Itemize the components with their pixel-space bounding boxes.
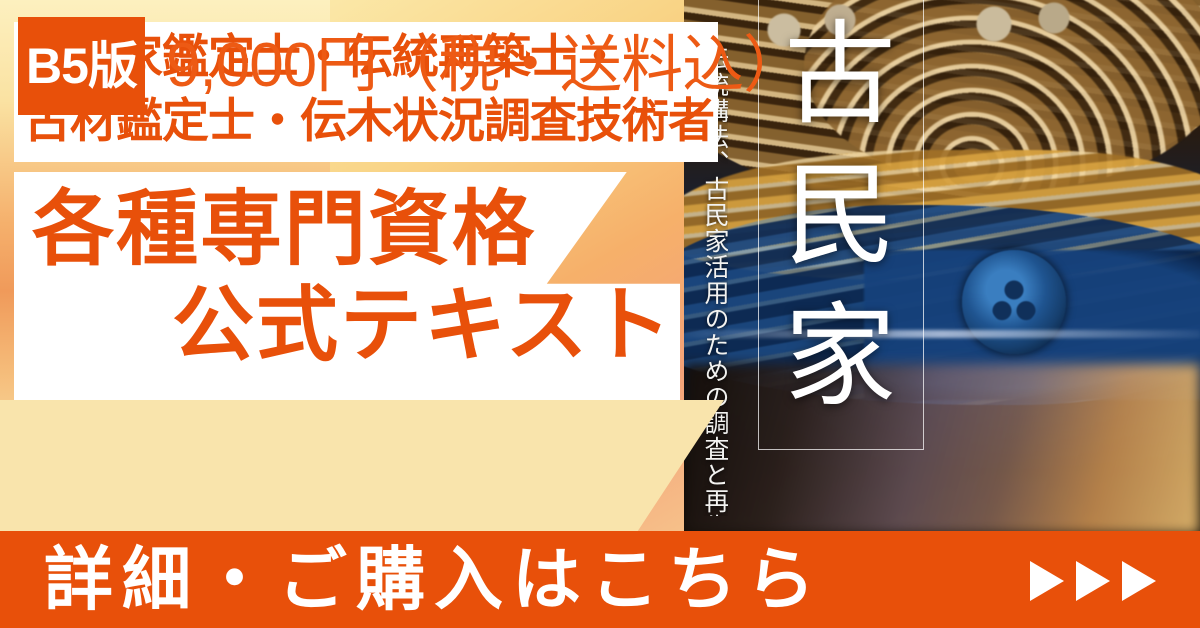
cover-title-char-2: 民 — [764, 147, 916, 288]
cta-bar[interactable]: 詳細・ご購入はこちら — [0, 531, 1200, 628]
price-text: 9,000円（税・送料込） — [166, 22, 804, 110]
cta-arrows — [1030, 561, 1156, 601]
subhead-panel: 各種専門資格 公式テキスト — [14, 172, 680, 400]
triangle-right-icon — [1122, 561, 1156, 601]
format-badge: B5版 — [18, 17, 145, 115]
subhead-line-2: 公式テキスト — [172, 278, 674, 374]
cover-title-char-3: 家 — [764, 288, 916, 429]
promo-banner: 古 民 家 伝統構法、古民家活用のための調査と再生の 古民家鑑定士・伝統再築士・… — [0, 0, 1200, 628]
subhead-line-1: 各種専門資格 — [32, 182, 536, 278]
price-panel — [0, 400, 724, 532]
cta-label: 詳細・ご購入はこちら — [44, 535, 824, 625]
photo-family-crest-medallion — [962, 250, 1066, 354]
triangle-right-icon — [1076, 561, 1110, 601]
triangle-right-icon — [1030, 561, 1064, 601]
